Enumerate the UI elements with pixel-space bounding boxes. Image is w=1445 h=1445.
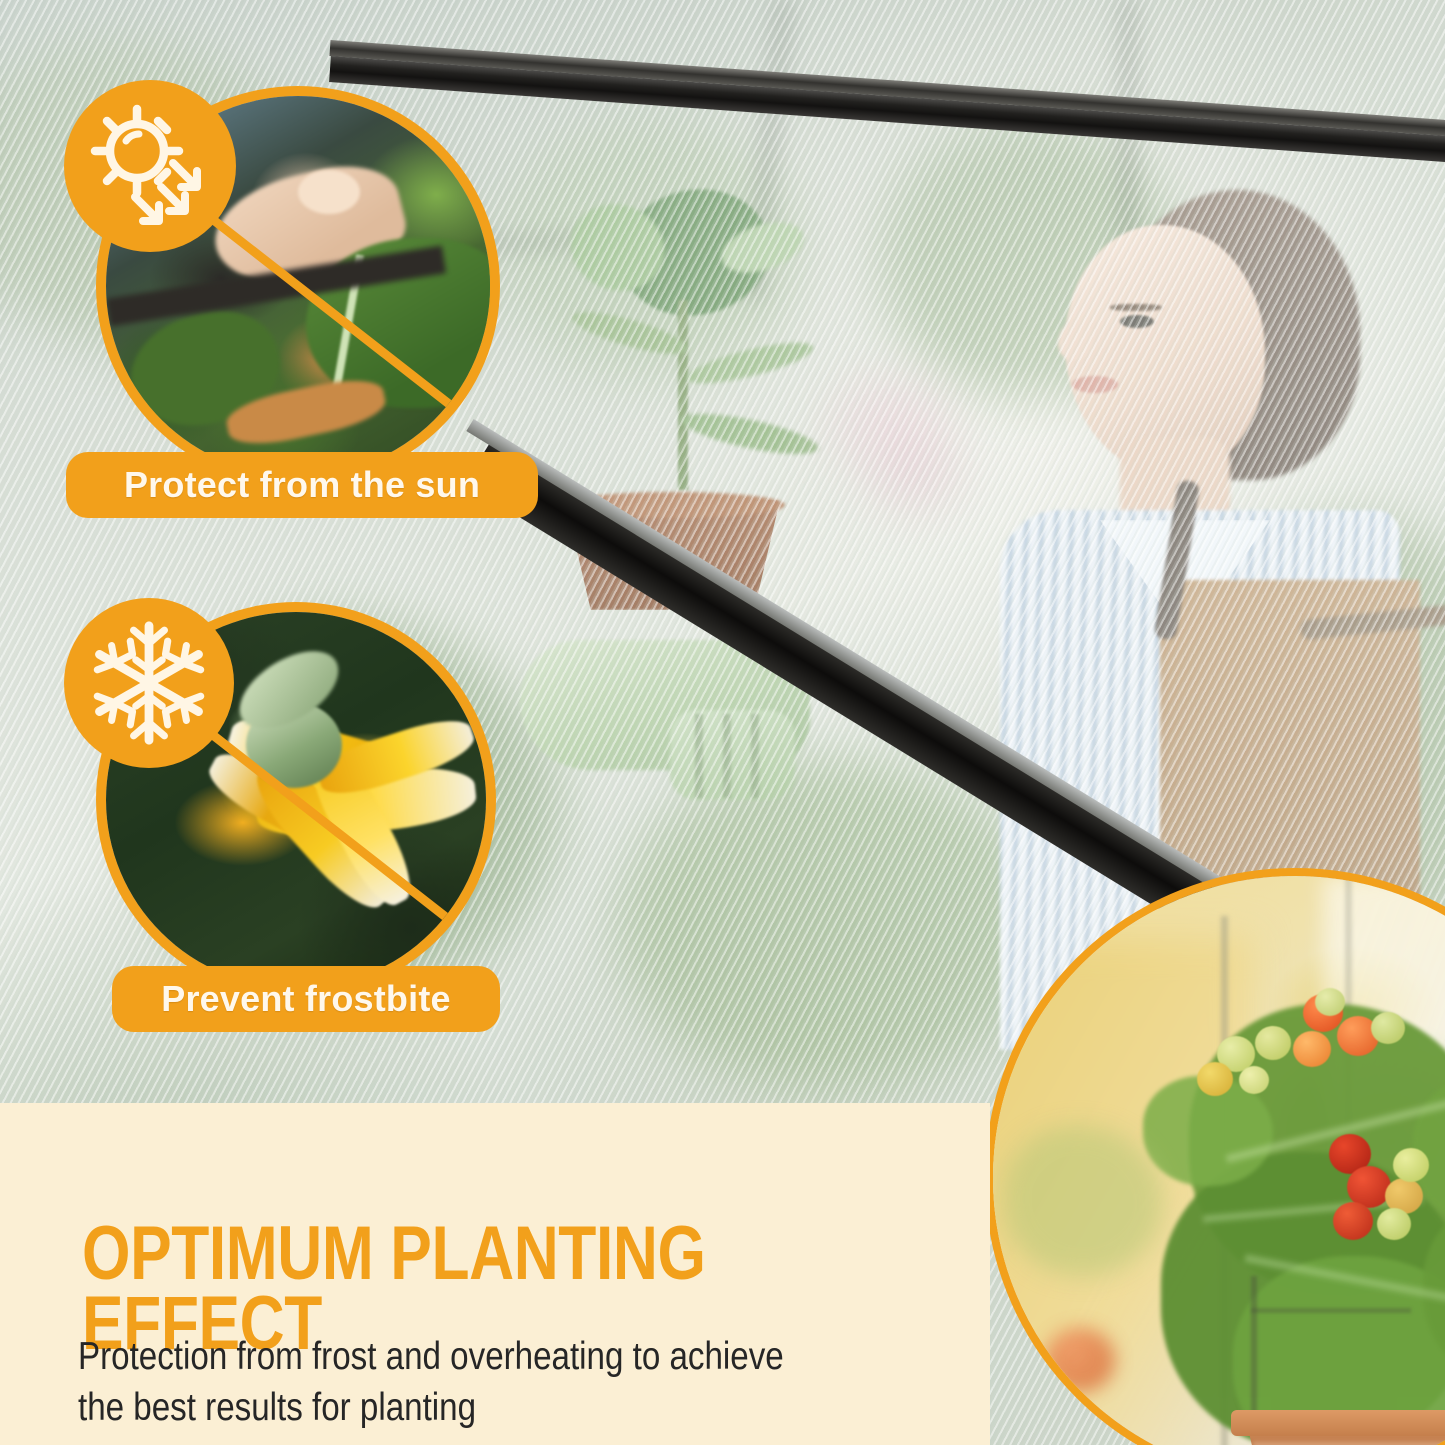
tomato-fruit-reflection <box>1045 1328 1115 1392</box>
badge-label-text: Protect from the sun <box>124 464 480 506</box>
badge-label-pill-frostbite: Prevent frostbite <box>112 966 500 1032</box>
badge-label-text: Prevent frostbite <box>161 978 450 1020</box>
tomato-fruit <box>1393 1148 1429 1182</box>
tomato-fruit <box>1315 988 1345 1016</box>
tomato-fruit <box>1197 1062 1233 1096</box>
tomato-fruit <box>1239 1066 1269 1094</box>
tomato-fruit <box>1255 1026 1291 1060</box>
sun-rays-icon <box>64 80 236 252</box>
tomato-fruit <box>1293 1031 1331 1067</box>
tomato-foliage-reflection <box>1003 1126 1163 1276</box>
tomato-fruit <box>1377 1208 1411 1240</box>
snowflake-icon <box>64 598 234 768</box>
tomato-fruit <box>1333 1202 1373 1240</box>
page-subtitle: Protection from frost and overheating to… <box>78 1332 937 1433</box>
tomato-result-inset <box>985 868 1445 1445</box>
tomato-fruit <box>1371 1012 1405 1044</box>
terracotta-pot-rim <box>1231 1410 1445 1436</box>
product-infographic: Protect from the sun <box>0 0 1445 1445</box>
badge-label-pill-sun: Protect from the sun <box>66 452 538 518</box>
